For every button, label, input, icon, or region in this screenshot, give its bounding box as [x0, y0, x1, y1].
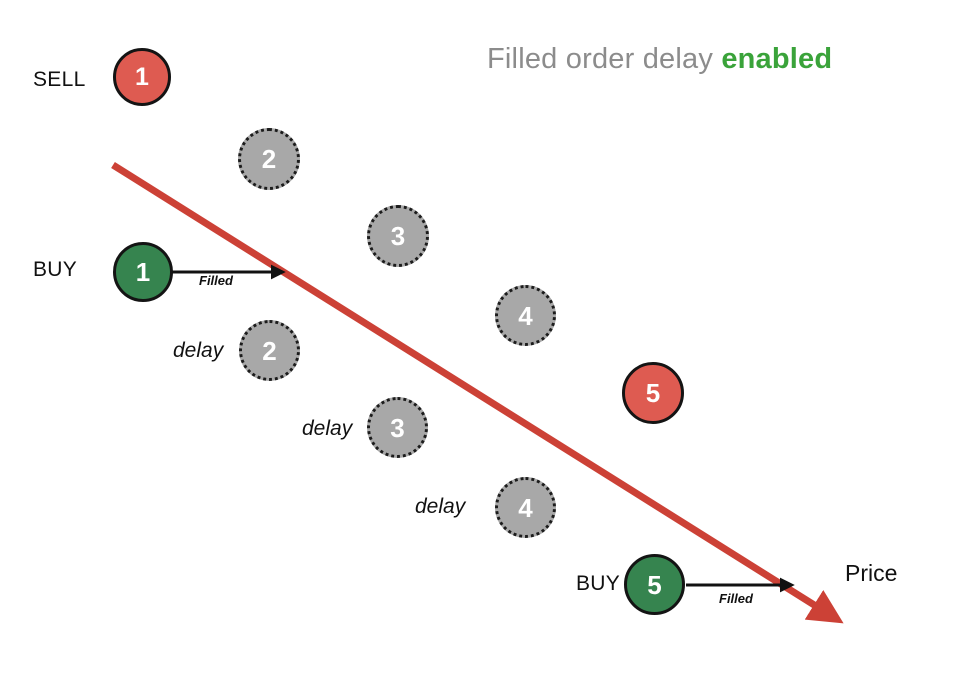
delay-label-2: delay	[173, 339, 223, 363]
delay-label-4: delay	[415, 495, 465, 519]
delay-label-3: delay	[302, 417, 352, 441]
node-number: 4	[518, 495, 532, 521]
node-number: 2	[262, 338, 276, 364]
buy-order-node-5[interactable]: 5	[624, 554, 685, 615]
filled-label-bottom: Filled	[719, 591, 753, 606]
sell-order-node-5[interactable]: 5	[622, 362, 684, 424]
buy-row-label-bottom: BUY	[576, 572, 620, 596]
title-plain-text: Filled order delay	[487, 43, 721, 75]
buy-order-node-1[interactable]: 1	[113, 242, 173, 302]
node-number: 5	[647, 572, 661, 598]
sell-row-label: SELL	[33, 68, 86, 92]
node-number: 1	[136, 259, 150, 285]
buy-row-label-top: BUY	[33, 258, 77, 282]
pending-order-node-4-delay[interactable]: 4	[495, 477, 556, 538]
price-axis-label: Price	[845, 560, 897, 587]
node-number: 4	[518, 303, 532, 329]
pending-order-node-2-top[interactable]: 2	[238, 128, 300, 190]
node-number: 2	[262, 146, 276, 172]
node-number: 1	[135, 65, 149, 90]
pending-order-node-2-delay[interactable]: 2	[239, 320, 300, 381]
node-number: 3	[390, 415, 404, 441]
sell-order-node-1[interactable]: 1	[113, 48, 171, 106]
page-title: Filled order delay enabled	[487, 43, 832, 76]
node-number: 3	[391, 223, 405, 249]
pending-order-node-3-delay[interactable]: 3	[367, 397, 428, 458]
pending-order-node-4-top[interactable]: 4	[495, 285, 556, 346]
filled-label-top: Filled	[199, 273, 233, 288]
pending-order-node-3-top[interactable]: 3	[367, 205, 429, 267]
node-number: 5	[646, 380, 660, 406]
diagram-canvas: Filled order delay enabled SELL 1 2 3 BU…	[0, 0, 975, 678]
title-accent-text: enabled	[721, 43, 832, 75]
